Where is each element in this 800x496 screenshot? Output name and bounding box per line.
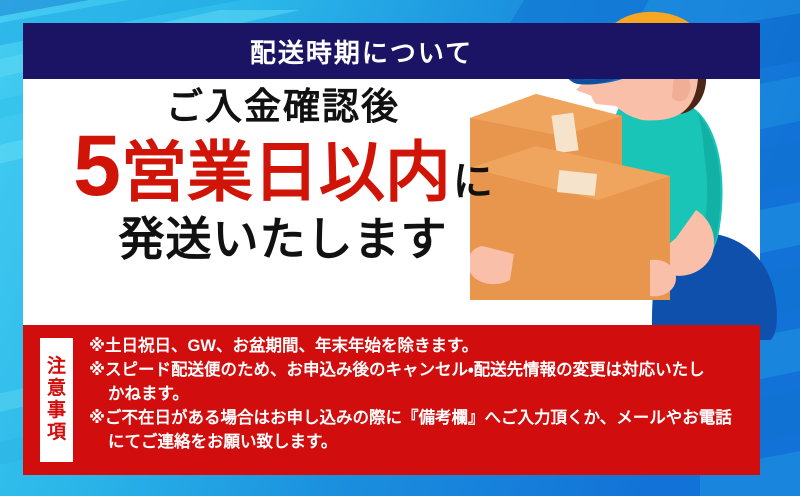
notice-item: ※ご不在日がある場合はお申し込みの際に『備考欄』へご入力頂くか、メールやお電話 … bbox=[89, 407, 750, 454]
delivery-notice-banner: 配送時期について ご入金確認後 5 営業日以内 に 発送いたします 注 意 事 … bbox=[0, 0, 800, 496]
notice-label-char-2: 事 bbox=[47, 400, 66, 422]
notice-item-line: ※ご不在日がある場合はお申し込みの際に『備考欄』へご入力頂くか、メールやお電話 bbox=[89, 407, 750, 430]
headline-suffix: に bbox=[453, 162, 493, 202]
notice-item-line: にてご連絡をお願い致します。 bbox=[89, 431, 750, 454]
notice-body: ※土日祝日、GW、お盆期間、年末年始を除きます。 ※スピード配送便のため、お申込… bbox=[89, 335, 750, 455]
notice-item: ※土日祝日、GW、お盆期間、年末年始を除きます。 bbox=[89, 335, 750, 358]
notice-item: ※スピード配送便のため、お申込み後のキャンセル・配送先情報の変更は対応いたし か… bbox=[89, 359, 750, 406]
headline-line-3: 発送いたします bbox=[23, 216, 543, 262]
notice-item-line: かねます。 bbox=[89, 383, 750, 406]
notice-item-line: ※スピード配送便のため、お申込み後のキャンセル・配送先情報の変更は対応いたし bbox=[89, 359, 750, 382]
notice-label-char-1: 意 bbox=[47, 378, 66, 400]
headline-block: ご入金確認後 5 営業日以内 に 発送いたします bbox=[23, 82, 543, 262]
headline-red-text: 営業日以内 bbox=[121, 139, 451, 205]
notice-item-line: ※土日祝日、GW、お盆期間、年末年始を除きます。 bbox=[89, 335, 750, 358]
notice-label-char-3: 項 bbox=[47, 422, 66, 444]
header-bar: 配送時期について bbox=[23, 23, 760, 79]
page-title: 配送時期について bbox=[23, 23, 760, 79]
headline-number: 5 bbox=[73, 127, 121, 206]
notice-box: 注 意 事 項 ※土日祝日、GW、お盆期間、年末年始を除きます。 ※スピード配送… bbox=[23, 325, 760, 475]
headline-line-2: 5 営業日以内 に bbox=[23, 127, 543, 206]
notice-label-char-0: 注 bbox=[47, 356, 66, 378]
notice-label: 注 意 事 項 bbox=[40, 338, 73, 462]
